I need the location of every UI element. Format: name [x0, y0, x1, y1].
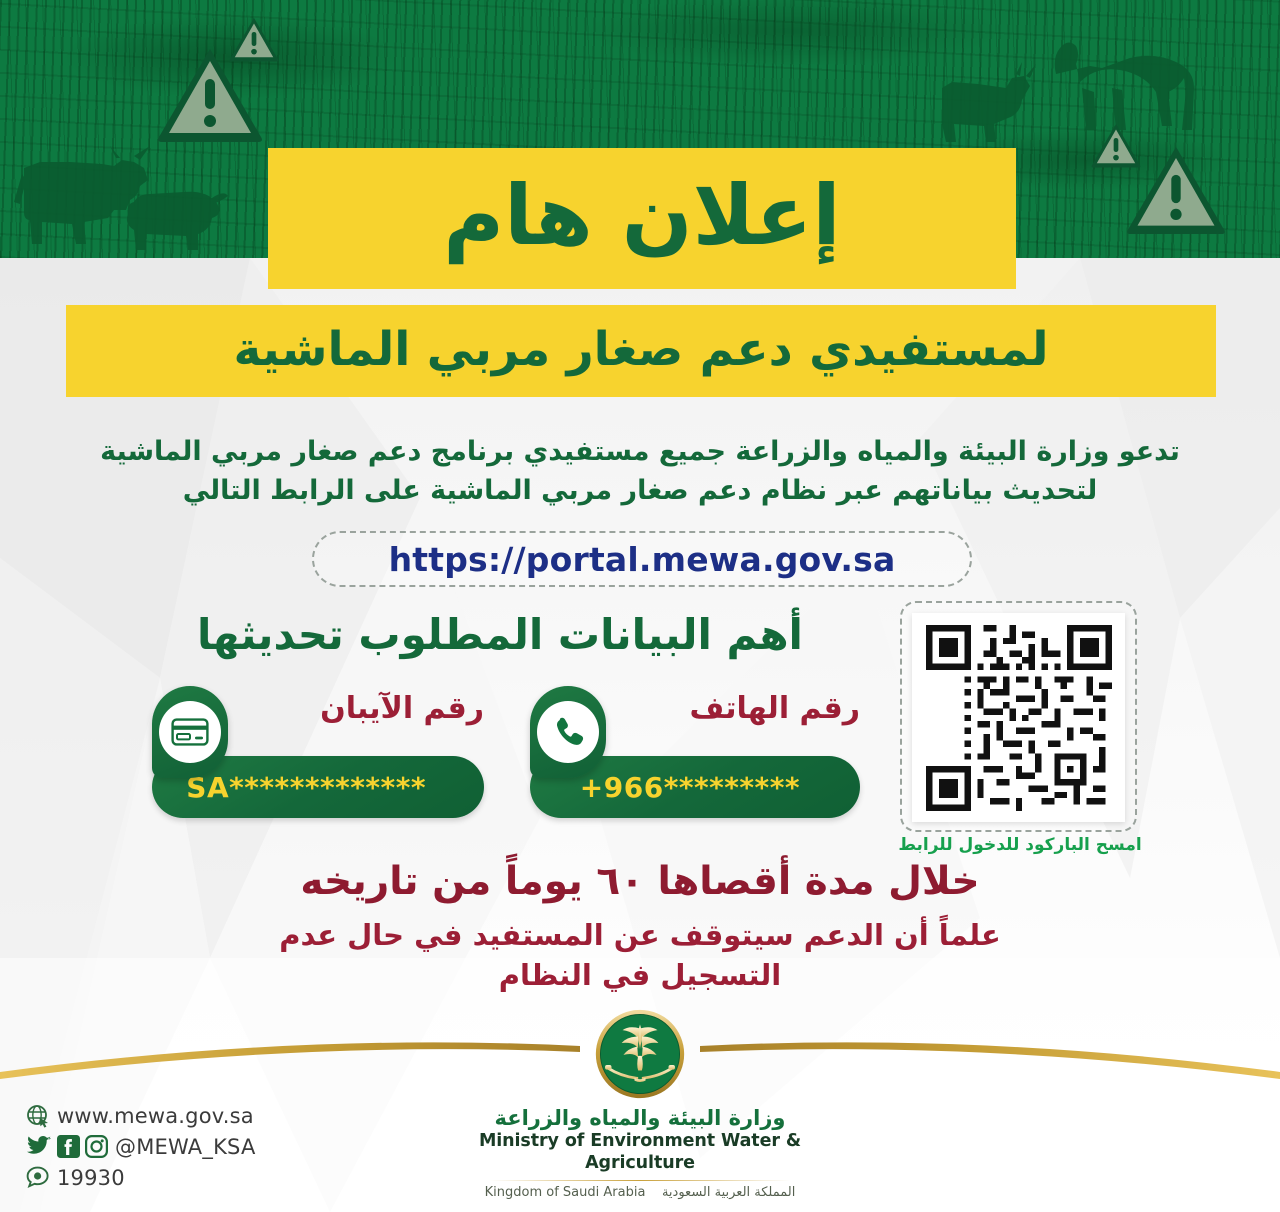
- iban-label: رقم الآيبان: [320, 694, 484, 724]
- facebook-icon[interactable]: [57, 1135, 80, 1158]
- poster-root: إعلان هام لمستفيدي دعم صغار مربي الماشية…: [0, 0, 1280, 1212]
- globe-icon: [26, 1104, 50, 1128]
- phone-icon-badge: [530, 686, 606, 778]
- page-subtitle: لمستفيدي دعم صغار مربي الماشية: [234, 326, 1049, 373]
- contact-block: www.mewa.gov.sa @MEWA_KSA: [26, 1100, 256, 1193]
- deadline-text: خلال مدة أقصاها ٦٠ يوماً من تاريخه: [240, 860, 1040, 905]
- social-handle-text[interactable]: @MEWA_KSA: [115, 1135, 256, 1159]
- data-section-heading-text: أهم البيانات المطلوب تحديثها: [197, 610, 803, 659]
- kingdom-name-ar: المملكة العربية السعودية: [662, 1185, 795, 1200]
- qr-code-card[interactable]: [912, 613, 1125, 822]
- ministry-logo-block: وزارة البيئة والمياه والزراعة Ministry o…: [440, 1008, 840, 1201]
- portal-url-box[interactable]: https://portal.mewa.gov.sa: [312, 531, 972, 587]
- data-section-heading: أهم البيانات المطلوب تحديثها: [160, 612, 840, 658]
- saudi-palm-swords-emblem-icon: [594, 1008, 686, 1100]
- qr-code-icon[interactable]: [926, 625, 1112, 811]
- warning-note: علماً أن الدعم سيتوقف عن المستفيد في حال…: [240, 915, 1040, 995]
- sheep-silhouette-icon: [120, 180, 232, 256]
- credit-card-icon: [171, 718, 209, 746]
- warning-note-line-1: علماً أن الدعم سيتوقف عن المستفيد في حال…: [240, 915, 1040, 955]
- phone-handset-icon: [551, 715, 585, 749]
- social-icon-group: [26, 1135, 108, 1158]
- iban-icon-badge: [152, 686, 228, 778]
- qr-code-container[interactable]: [900, 601, 1137, 832]
- warning-triangle-icon: [228, 16, 280, 62]
- contact-social-row[interactable]: @MEWA_KSA: [26, 1131, 256, 1162]
- contact-callcenter-row[interactable]: 19930: [26, 1162, 256, 1193]
- body-paragraph: تدعو وزارة البيئة والمياه والزراعة جميع …: [70, 432, 1210, 510]
- body-line-1: تدعو وزارة البيئة والمياه والزراعة جميع …: [70, 432, 1210, 471]
- qr-caption: امسح الباركود للدخول للرابط: [890, 835, 1150, 855]
- logo-divider: [490, 1180, 790, 1181]
- contact-website-row[interactable]: www.mewa.gov.sa: [26, 1100, 256, 1131]
- ministry-name-ar: وزارة البيئة والمياه والزراعة: [440, 1106, 840, 1131]
- warning-note-line-2: التسجيل في النظام: [240, 955, 1040, 995]
- call-center-text[interactable]: 19930: [57, 1166, 125, 1190]
- kingdom-name-en: Kingdom of Saudi Arabia: [485, 1185, 646, 1201]
- phone-label: رقم الهاتف: [690, 694, 861, 724]
- phone-value: +966*********: [580, 771, 800, 804]
- kingdom-line: المملكة العربية السعودية Kingdom of Saud…: [440, 1185, 840, 1201]
- instagram-icon[interactable]: [85, 1135, 108, 1158]
- warning-triangle-icon: [1124, 143, 1228, 235]
- ministry-name-en: Ministry of Environment Water & Agricult…: [440, 1131, 840, 1175]
- chat-bubble-icon: [26, 1166, 50, 1190]
- website-text[interactable]: www.mewa.gov.sa: [57, 1104, 254, 1128]
- page-title: إعلان هام: [443, 174, 840, 257]
- main-title-banner: إعلان هام: [268, 148, 1016, 289]
- goat-silhouette-icon: [930, 62, 1040, 150]
- body-line-2: لتحديث بياناتهم عبر نظام دعم صغار مربي ا…: [70, 471, 1210, 510]
- twitter-icon[interactable]: [26, 1136, 52, 1158]
- iban-value: SA*************: [186, 771, 426, 804]
- portal-url-text[interactable]: https://portal.mewa.gov.sa: [389, 540, 896, 579]
- subtitle-banner: لمستفيدي دعم صغار مربي الماشية: [66, 305, 1216, 397]
